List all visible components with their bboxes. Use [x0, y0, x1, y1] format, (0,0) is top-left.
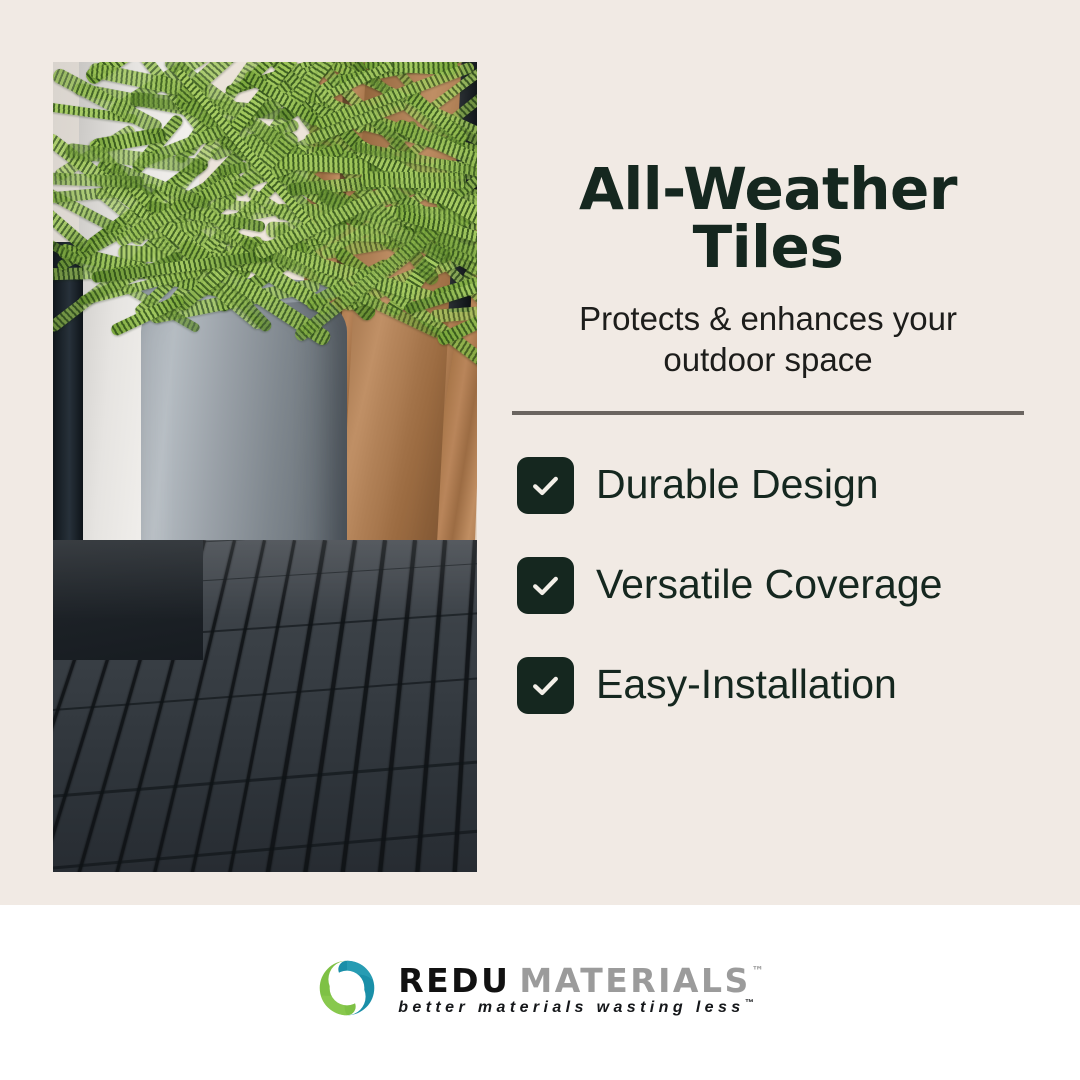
deck-tile-groove — [447, 540, 477, 872]
footer-bar: REDU MATERIALS ™ better materials wastin… — [0, 905, 1080, 1080]
feature-label: Versatile Coverage — [596, 562, 942, 607]
tagline-trademark-symbol: ™ — [745, 997, 754, 1007]
check-icon — [517, 457, 574, 514]
page-title: All-Weather Tiles — [512, 62, 1024, 276]
page-subtitle: Protects & enhances your outdoor space — [512, 276, 1024, 381]
brand-tagline-text: better materials wasting less — [398, 999, 744, 1016]
feature-item-versatile-coverage: Versatile Coverage — [517, 557, 1024, 614]
deck-tile-seam — [53, 756, 477, 800]
feature-list: Durable Design Versatile Coverage Easy-I… — [512, 415, 1024, 714]
photo-inner — [53, 62, 477, 872]
brand-name-primary: REDU — [398, 964, 510, 997]
brand-tagline: better materials wasting less™ — [398, 999, 753, 1016]
deck-tile-groove — [330, 540, 387, 872]
feature-item-durable-design: Durable Design — [517, 457, 1024, 514]
brand-wordmark-group: REDU MATERIALS ™ better materials wastin… — [398, 964, 764, 1016]
marketing-graphic: All-Weather Tiles Protects & enhances yo… — [0, 0, 1080, 1080]
brand-logo: REDU MATERIALS ™ better materials wastin… — [316, 957, 764, 1024]
feature-item-easy-installation: Easy-Installation — [517, 657, 1024, 714]
photo-fern-plant — [53, 62, 477, 344]
content-column: All-Weather Tiles Protects & enhances yo… — [512, 62, 1024, 757]
photo-deck-shadow-corner — [53, 540, 203, 660]
brand-name-secondary: MATERIALS — [519, 964, 750, 997]
deck-tile-groove — [408, 540, 447, 872]
trademark-symbol: ™ — [752, 965, 764, 977]
feature-label: Durable Design — [596, 462, 879, 507]
redu-circle-swirl-icon — [316, 957, 378, 1024]
check-icon — [517, 657, 574, 714]
brand-wordmark: REDU MATERIALS ™ — [398, 964, 764, 997]
product-photo — [53, 62, 477, 872]
check-icon — [517, 557, 574, 614]
feature-label: Easy-Installation — [596, 662, 897, 707]
fern-frond — [360, 171, 465, 189]
